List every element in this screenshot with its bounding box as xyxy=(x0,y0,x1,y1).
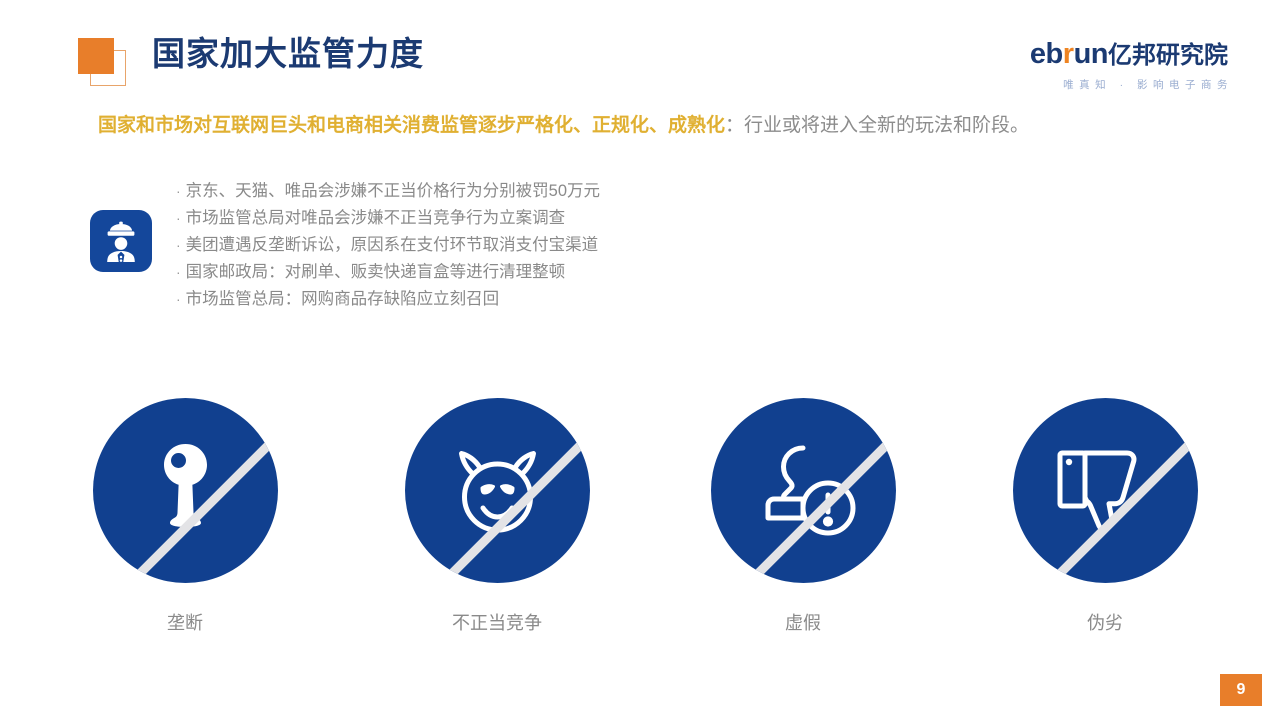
prohibited-item-label: 垄断 xyxy=(80,611,290,635)
accent-square-solid xyxy=(78,38,114,74)
list-item: ·国家邮政局：对刷单、贩卖快递盲盒等进行清理整顿 xyxy=(176,259,796,286)
prohibited-item-false: 虚假 xyxy=(698,398,908,635)
title-accent-mark xyxy=(78,38,126,86)
list-item: ·市场监管总局：网购商品存缺陷应立刻召回 xyxy=(176,286,796,313)
list-item-label: 美团遭遇反垄断诉讼，原因系在支付环节取消支付宝渠道 xyxy=(186,236,599,254)
page-title: 国家加大监管力度 xyxy=(152,32,424,76)
brand-logo: ebrun亿邦研究院 唯真知 · 影响电子商务 xyxy=(998,38,1228,92)
list-item: ·京东、天猫、唯品会涉嫌不正当价格行为分别被罚50万元 xyxy=(176,178,796,205)
prohibited-item-label: 虚假 xyxy=(698,611,908,635)
monopoly-circle xyxy=(93,398,278,583)
prohibited-item-unfair-competition: 不正当竞争 xyxy=(392,398,602,635)
list-item-label: 市场监管总局：网购商品存缺陷应立刻召回 xyxy=(186,290,500,308)
subtitle: 国家和市场对互联网巨头和电商相关消费监管逐步严格化、正规化、成熟化：行业或将进入… xyxy=(98,112,1029,140)
prohibited-item-counterfeit: 伪劣 xyxy=(1000,398,1210,635)
bullet-dot-icon: · xyxy=(176,183,181,199)
prohibited-item-label: 不正当竞争 xyxy=(392,611,602,635)
list-item: ·市场监管总局对唯品会涉嫌不正当竞争行为立案调查 xyxy=(176,205,796,232)
list-item: ·美团遭遇反垄断诉讼，原因系在支付环节取消支付宝渠道 xyxy=(176,232,796,259)
bullet-dot-icon: · xyxy=(176,237,181,253)
logo-text-eb: eb xyxy=(1030,38,1063,70)
bullet-dot-icon: · xyxy=(176,264,181,280)
prohibited-behaviors-row: 垄断 不正当竞争 xyxy=(0,398,1280,648)
bullet-dot-icon: · xyxy=(176,291,181,307)
page-number-badge: 9 xyxy=(1220,674,1262,706)
logo-text-cn: 亿邦研究院 xyxy=(1108,42,1228,69)
police-officer-icon xyxy=(90,210,152,272)
list-item-label: 市场监管总局对唯品会涉嫌不正当竞争行为立案调查 xyxy=(186,209,566,227)
bullet-dot-icon: · xyxy=(176,210,181,226)
logo-text-un: un xyxy=(1074,38,1108,70)
slide-header: 国家加大监管力度 ebrun亿邦研究院 唯真知 · 影响电子商务 xyxy=(0,0,1280,100)
devil-face-circle xyxy=(405,398,590,583)
list-item-label: 国家邮政局：对刷单、贩卖快递盲盒等进行清理整顿 xyxy=(186,263,566,281)
logo-text-r: r xyxy=(1063,38,1074,70)
list-item-label: 京东、天猫、唯品会涉嫌不正当价格行为分别被罚50万元 xyxy=(186,182,600,200)
prohibited-item-monopoly: 垄断 xyxy=(80,398,290,635)
logo-wordmark: ebrun亿邦研究院 xyxy=(998,38,1228,72)
subtitle-rest: ：行业或将进入全新的玩法和阶段。 xyxy=(725,115,1029,136)
thumbs-down-circle xyxy=(1013,398,1198,583)
logo-tagline: 唯真知 · 影响电子商务 xyxy=(998,77,1233,92)
user-alert-circle xyxy=(711,398,896,583)
subtitle-highlight: 国家和市场对互联网巨头和电商相关消费监管逐步严格化、正规化、成熟化 xyxy=(98,115,725,136)
bullet-list: ·京东、天猫、唯品会涉嫌不正当价格行为分别被罚50万元 ·市场监管总局对唯品会涉… xyxy=(176,178,796,313)
prohibited-item-label: 伪劣 xyxy=(1000,611,1210,635)
